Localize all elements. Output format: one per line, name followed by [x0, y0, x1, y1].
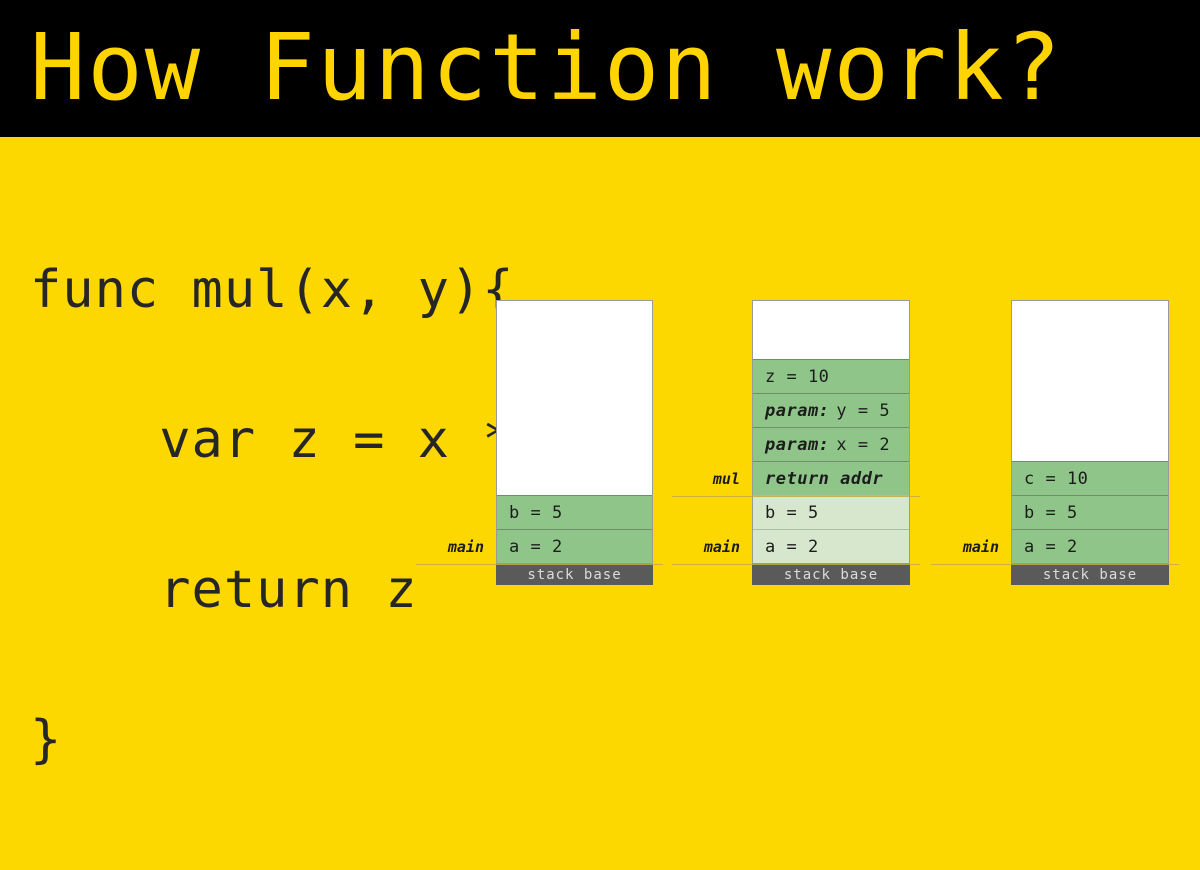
stack-cell: param:x = 2	[753, 427, 909, 461]
frame-boundary-hairline	[672, 564, 920, 565]
stack-cell: b = 5	[1012, 495, 1168, 529]
stack-cell: a = 2	[753, 529, 909, 563]
stack-cell: param:y = 5	[753, 393, 909, 427]
stack-cell: b = 5	[753, 495, 909, 529]
stack-frame-label-main: main	[931, 538, 999, 556]
stack-cell-value: x = 2	[836, 435, 890, 455]
stack-cell: c = 10	[1012, 461, 1168, 495]
page-title: How Function work?	[30, 15, 1063, 120]
stack-base-bar: stack base	[752, 564, 910, 585]
stack-cell-value: y = 5	[836, 401, 890, 421]
frame-boundary-hairline	[416, 564, 663, 565]
stack-cell: return addr	[753, 461, 909, 495]
stack-base-bar: stack base	[496, 564, 653, 585]
frame-boundary-hairline	[672, 496, 920, 497]
slide-root: How Function work? func mul(x, y){ var z…	[0, 0, 1200, 629]
stack-box-stack-after-return: c = 10b = 5a = 2	[1011, 300, 1169, 564]
stack-frame-label-mul: mul	[672, 470, 740, 488]
stack-frame-label-main: main	[672, 538, 740, 556]
stack-cell-tag: param:	[765, 435, 829, 455]
stack-box-stack-before-call: b = 5a = 2	[496, 300, 653, 564]
stack-frame-label-main: main	[416, 538, 484, 556]
stack-cell: a = 2	[497, 529, 652, 563]
title-header-bar: How Function work?	[0, 0, 1200, 137]
code-line: }	[30, 715, 579, 765]
stack-cell: b = 5	[497, 495, 652, 529]
frame-boundary-hairline	[931, 564, 1179, 565]
stack-cell: a = 2	[1012, 529, 1168, 563]
stack-box-stack-during-call: z = 10param:y = 5param:x = 2return addrb…	[752, 300, 910, 564]
stack-base-bar: stack base	[1011, 564, 1169, 585]
stack-cell: z = 10	[753, 359, 909, 393]
stack-cell-tag: param:	[765, 401, 829, 421]
